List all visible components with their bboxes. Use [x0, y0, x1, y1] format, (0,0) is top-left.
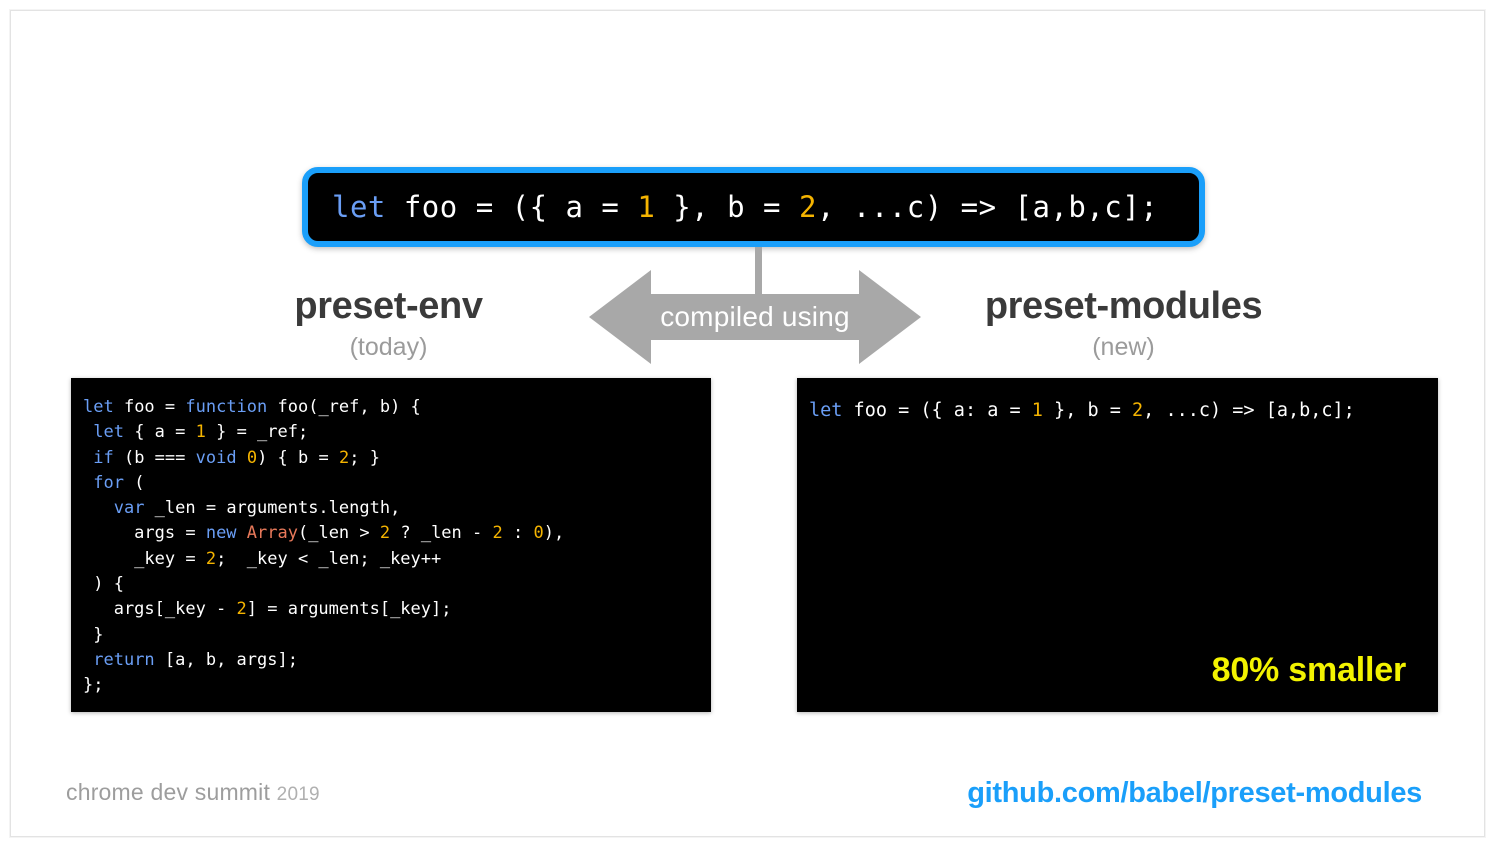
code-line: ) { — [83, 572, 711, 597]
footer-brand: chrome dev summit 2019 — [66, 779, 320, 806]
code-line: _key = 2; _key < _len; _key++ — [83, 547, 711, 572]
column-heading-preset-modules: preset-modules (new) — [911, 287, 1336, 360]
code-line: args = new Array(_len > 2 ? _len - 2 : 0… — [83, 521, 711, 546]
code-line: var _len = arguments.length, — [83, 496, 711, 521]
size-reduction-badge: 80% smaller — [1212, 651, 1406, 690]
compiled-using-arrow: compiled using — [589, 270, 921, 364]
code-panel-preset-env: let foo = function foo(_ref, b) { let { … — [71, 378, 711, 712]
code-line: let foo = ({ a: a = 1 }, b = 2, ...c) =>… — [809, 398, 1438, 424]
code-line: return [a, b, args]; — [83, 648, 711, 673]
code-line: args[_key - 2] = arguments[_key]; — [83, 597, 711, 622]
arrow-label: compiled using — [589, 270, 921, 364]
preset-env-title: preset-env — [176, 287, 601, 325]
code-line: let { a = 1 } = _ref; — [83, 420, 711, 445]
code-line: }; — [83, 673, 711, 698]
code-text-preset-modules: let foo = ({ a: a = 1 }, b = 2, ...c) =>… — [797, 378, 1438, 424]
preset-modules-subtitle: (new) — [911, 335, 1336, 360]
preset-env-subtitle: (today) — [176, 335, 601, 360]
source-code-text: let foo = ({ a = 1 }, b = 2, ...c) => [a… — [332, 190, 1158, 224]
footer-brand-name: chrome dev summit — [66, 779, 270, 805]
column-heading-preset-env: preset-env (today) — [176, 287, 601, 360]
code-line: } — [83, 623, 711, 648]
code-line: for ( — [83, 471, 711, 496]
slide-frame: let foo = ({ a = 1 }, b = 2, ...c) => [a… — [10, 10, 1485, 837]
code-text-preset-env: let foo = function foo(_ref, b) { let { … — [71, 378, 711, 699]
code-line: if (b === void 0) { b = 2; } — [83, 446, 711, 471]
source-code-box: let foo = ({ a = 1 }, b = 2, ...c) => [a… — [302, 167, 1205, 247]
code-line: let foo = function foo(_ref, b) { — [83, 395, 711, 420]
footer-link[interactable]: github.com/babel/preset-modules — [967, 777, 1422, 810]
footer-year: 2019 — [277, 784, 320, 805]
slide-root: let foo = ({ a = 1 }, b = 2, ...c) => [a… — [0, 0, 1495, 847]
preset-modules-title: preset-modules — [911, 287, 1336, 325]
code-panel-preset-modules: let foo = ({ a: a = 1 }, b = 2, ...c) =>… — [797, 378, 1438, 712]
